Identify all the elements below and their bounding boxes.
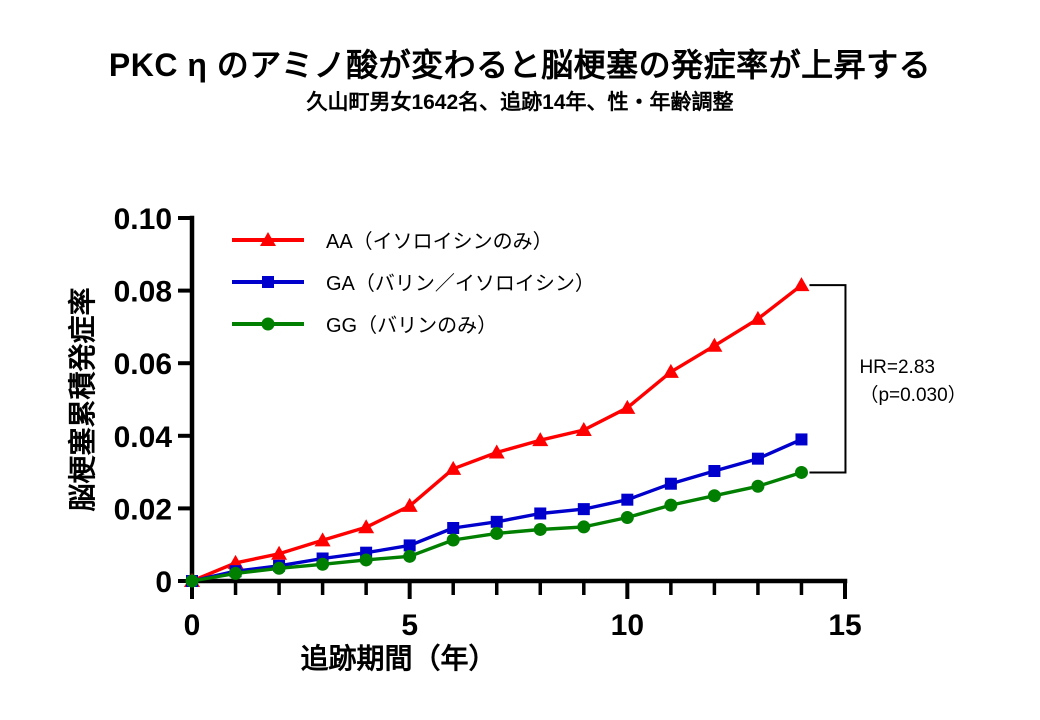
x-axis-title: 追跡期間（年） (300, 642, 496, 674)
data-point-2 (578, 503, 590, 515)
y-axis-tick-label: 0.10 (114, 203, 172, 236)
hr-annotation-value: HR=2.83 (859, 357, 935, 378)
y-axis-tick-label: 0 (155, 566, 172, 599)
slide-canvas: PKC η のアミノ酸が変わると脳梗塞の発症率が上昇する 久山町男女1642名、… (0, 0, 1040, 720)
data-point-2 (708, 465, 720, 477)
data-point-2 (447, 522, 459, 534)
data-point-3 (490, 527, 503, 540)
data-point-3 (664, 499, 677, 512)
data-point-3 (751, 480, 764, 493)
x-axis-tick-label: 10 (611, 609, 644, 642)
data-point-2 (795, 433, 807, 445)
p-value-annotation: （p=0.030） (859, 384, 966, 406)
hr-bracket (809, 285, 845, 472)
y-axis-tick-label: 0.08 (114, 276, 172, 309)
data-point-3 (360, 553, 373, 566)
data-point-3 (708, 489, 721, 502)
data-point-3 (316, 558, 329, 571)
y-axis-tick-label: 0.02 (114, 493, 172, 526)
data-point-2 (491, 516, 503, 528)
legend-square-marker (262, 276, 274, 288)
data-point-2 (621, 494, 633, 506)
data-point-3 (403, 550, 416, 563)
legend-label-1: AA（イソロイシンのみ） (326, 230, 553, 253)
data-point-1 (706, 338, 722, 352)
data-point-1 (663, 364, 679, 378)
legend-label-2: GA（バリン／イソロイシン） (326, 272, 595, 295)
data-point-3 (273, 562, 286, 575)
x-axis-tick-label: 5 (401, 609, 418, 642)
legend-circle-marker (262, 318, 275, 331)
x-axis-tick-label: 15 (828, 609, 861, 642)
legend-label-3: GG（バリンのみ） (326, 314, 497, 337)
data-point-2 (534, 507, 546, 519)
data-point-2 (752, 453, 764, 465)
x-axis-tick-label: 0 (184, 609, 201, 642)
data-point-3 (186, 575, 199, 588)
incidence-line-chart: 00.020.040.060.080.10051015追跡期間（年）脳梗塞累積発… (0, 0, 1040, 720)
data-point-1 (793, 277, 809, 291)
data-point-3 (577, 520, 590, 533)
data-point-3 (447, 533, 460, 546)
y-axis-tick-label: 0.04 (114, 421, 173, 454)
data-point-3 (534, 523, 547, 536)
data-point-3 (795, 466, 808, 479)
y-axis-title: 脳梗塞累積発症率 (66, 287, 98, 511)
data-point-3 (621, 511, 634, 524)
data-point-2 (404, 539, 416, 551)
data-point-2 (665, 478, 677, 490)
y-axis-tick-label: 0.06 (114, 348, 172, 381)
data-point-3 (229, 567, 242, 580)
